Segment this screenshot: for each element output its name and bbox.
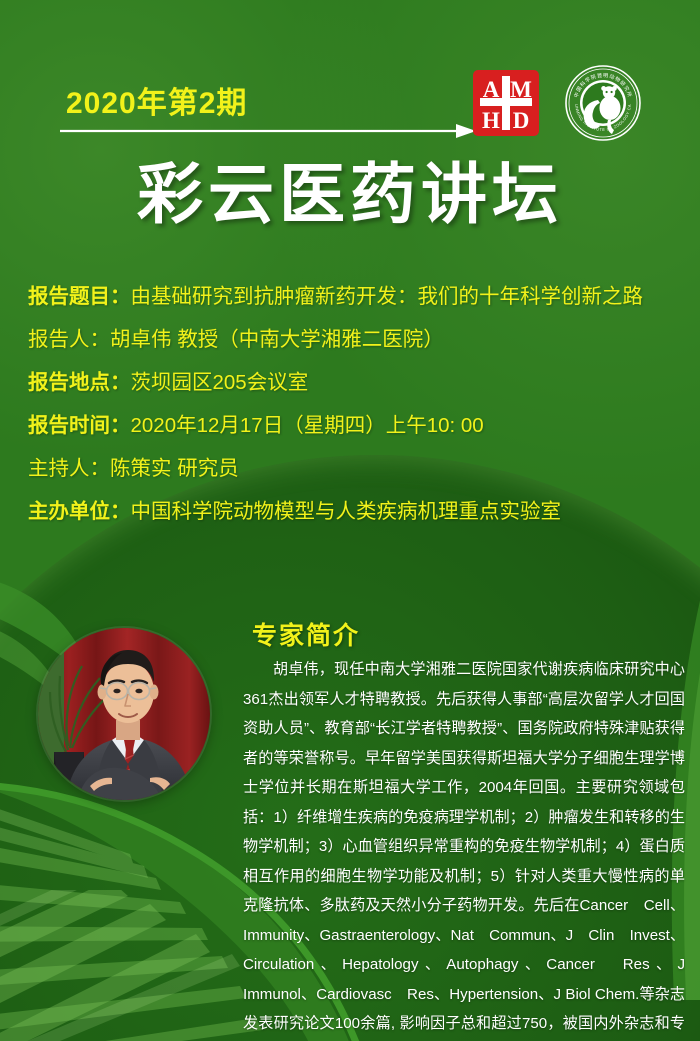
- page-title: 彩云医药讲坛: [0, 163, 700, 229]
- long-right-arrow-icon: [58, 120, 478, 142]
- info-key: 报告题目：: [28, 285, 131, 308]
- issue-label: 2020年第2期: [66, 78, 247, 122]
- svg-text:A: A: [483, 77, 500, 102]
- info-key: 报告地点：: [28, 371, 131, 394]
- info-key: 报告时间：: [28, 414, 131, 437]
- info-value: 陈策实 研究员: [110, 457, 239, 480]
- info-value: 中国科学院动物模型与人类疾病机理重点实验室: [131, 500, 562, 523]
- info-line-organizer: 主办单位：中国科学院动物模型与人类疾病机理重点实验室: [28, 502, 688, 523]
- kunming-institute-of-zoology-logo: 中国科学院昆明动物研究所 · KUNMING INSTITUTE OF ZOOL…: [564, 64, 642, 142]
- info-line-time: 报告时间：2020年12月17日（星期四）上午10: 00: [28, 416, 688, 437]
- info-value: 由基础研究到抗肿瘤新药开发：我们的十年科学创新之路: [131, 285, 644, 308]
- svg-text:H: H: [482, 108, 500, 133]
- svg-text:M: M: [510, 77, 532, 102]
- info-key: 报告人：: [28, 328, 110, 351]
- info-line-host: 主持人：陈策实 研究员: [28, 459, 688, 480]
- info-key: 主办单位：: [28, 500, 131, 523]
- bio-text: 胡卓伟，现任中南大学湘雅二医院国家代谢疾病临床研究中心361杰出领军人才特聘教授…: [243, 655, 685, 1041]
- leaf-blades-decoration: [0, 890, 260, 1041]
- info-key: 主持人：: [28, 457, 110, 480]
- info-line-topic: 报告题目：由基础研究到抗肿瘤新药开发：我们的十年科学创新之路: [28, 287, 688, 308]
- bio-heading: 专家简介: [252, 616, 360, 652]
- info-line-venue: 报告地点：茨坝园区205会议室: [28, 373, 688, 394]
- seminar-info-block: 报告题目：由基础研究到抗肿瘤新药开发：我们的十年科学创新之路 报告人：胡卓伟 教…: [28, 287, 688, 545]
- info-value: 胡卓伟 教授（中南大学湘雅二医院）: [110, 328, 444, 351]
- info-value: 茨坝园区205会议室: [131, 371, 309, 394]
- speaker-portrait: [38, 628, 210, 800]
- amhd-logo: A M H D: [473, 70, 539, 136]
- info-line-speaker: 报告人：胡卓伟 教授（中南大学湘雅二医院）: [28, 330, 688, 351]
- svg-text:D: D: [513, 108, 530, 133]
- info-value: 2020年12月17日（星期四）上午10: 00: [131, 414, 484, 437]
- seminar-poster: 2020年第2期 A M H D: [0, 0, 700, 1041]
